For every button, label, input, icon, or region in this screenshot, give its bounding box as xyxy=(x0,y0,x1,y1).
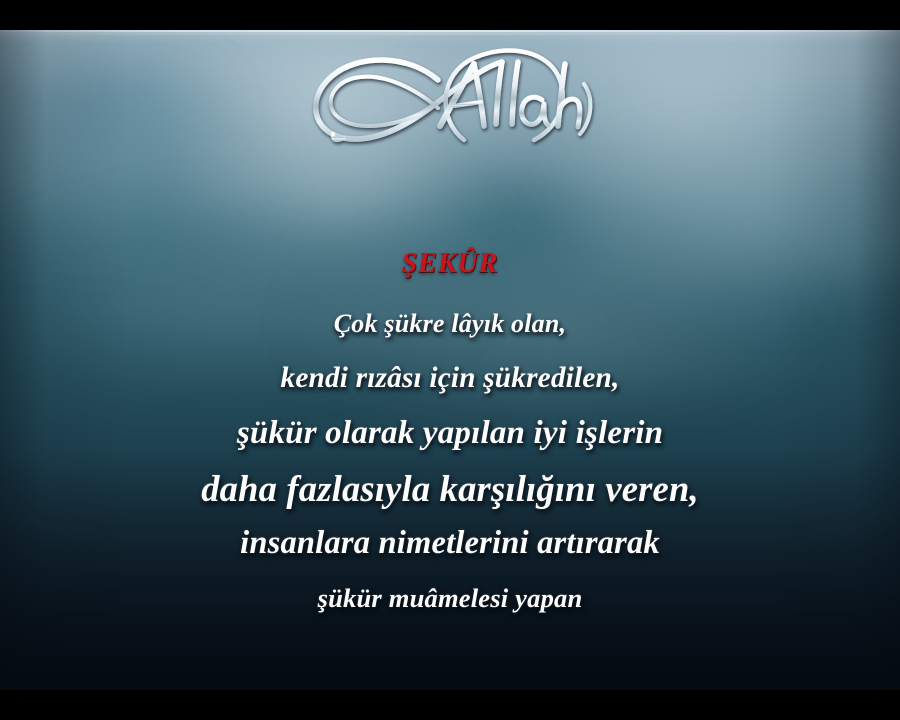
body-line: insanlara nimetlerini artırarak xyxy=(0,516,900,571)
text-block: ŞEKÛR Çok şükre lâyık olan, kendi rızâsı… xyxy=(0,238,900,626)
cloud-shape xyxy=(30,50,230,160)
body-line: Çok şükre lâyık olan, xyxy=(0,296,900,351)
letterbox-bar-top xyxy=(0,0,900,30)
video-frame: ŞEKÛR Çok şükre lâyık olan, kendi rızâsı… xyxy=(0,0,900,720)
body-line: şükür muâmelesi yapan xyxy=(0,571,900,626)
letterbox-bar-bottom xyxy=(0,690,900,720)
allah-calligraphy-logo xyxy=(288,28,608,153)
body-line: şükür olarak yapılan iyi işlerin xyxy=(0,406,900,461)
page-title: ŞEKÛR xyxy=(0,238,900,290)
body-line: kendi rızâsı için şükredilen, xyxy=(0,351,900,406)
cloud-shape xyxy=(0,65,270,245)
body-line: daha fazlasıyla karşılığını veren, xyxy=(0,461,900,516)
